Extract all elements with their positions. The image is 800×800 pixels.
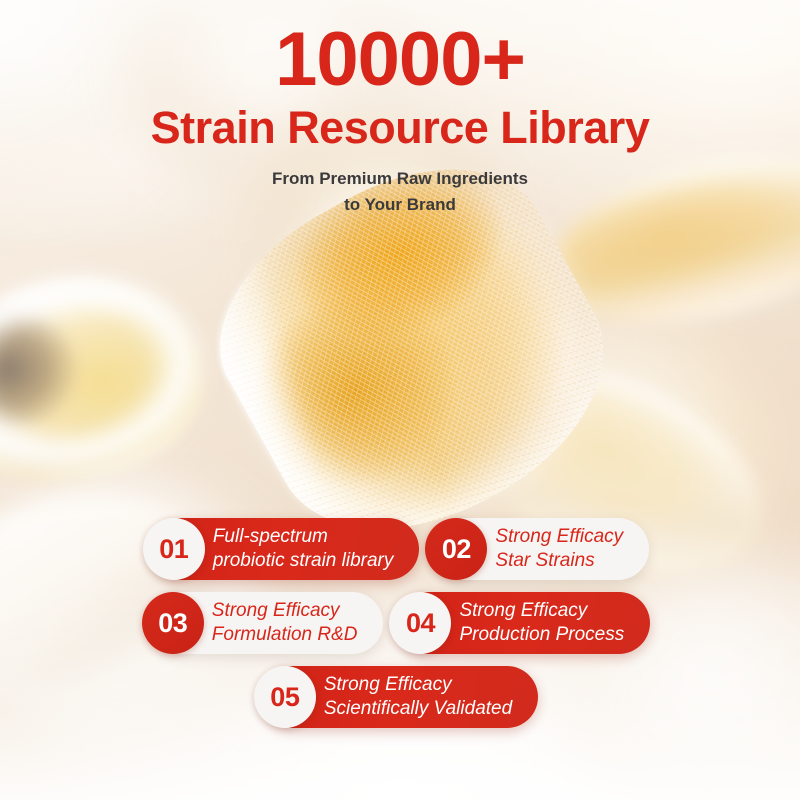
feature-pill-03[interactable]: 03 Strong Efficacy Formulation R&D: [150, 592, 384, 654]
feature-text-05: Strong Efficacy Scientifically Validated: [324, 673, 512, 721]
feature-line-2: Scientifically Validated: [324, 697, 512, 721]
tagline-line-2: to Your Brand: [0, 192, 800, 218]
feature-badge-04: 04: [389, 592, 451, 654]
tagline-block: From Premium Raw Ingredients to Your Bra…: [0, 166, 800, 217]
feature-pill-05[interactable]: 05 Strong Efficacy Scientifically Valida…: [262, 666, 538, 728]
headline-block: 10000+ Strain Resource Library: [0, 22, 800, 153]
headline-count: 10000+: [0, 22, 800, 98]
feature-line-1: Strong Efficacy: [495, 525, 623, 549]
feature-badge-01: 01: [143, 518, 205, 580]
feature-text-03: Strong Efficacy Formulation R&D: [212, 599, 358, 647]
headline-title: Strain Resource Library: [0, 104, 800, 153]
feature-badge-05: 05: [254, 666, 316, 728]
feature-badge-02: 02: [425, 518, 487, 580]
feature-line-2: probiotic strain library: [213, 549, 394, 573]
feature-line-2: Star Strains: [495, 549, 623, 573]
feature-row-2: 03 Strong Efficacy Formulation R&D 04 St…: [0, 592, 800, 654]
feature-line-1: Strong Efficacy: [212, 599, 358, 623]
feature-text-02: Strong Efficacy Star Strains: [495, 525, 623, 573]
feature-line-2: Formulation R&D: [212, 623, 358, 647]
feature-line-1: Strong Efficacy: [324, 673, 512, 697]
tagline-line-1: From Premium Raw Ingredients: [0, 166, 800, 192]
feature-text-04: Strong Efficacy Production Process: [459, 599, 624, 647]
feature-pill-02[interactable]: 02 Strong Efficacy Star Strains: [433, 518, 649, 580]
feature-row-1: 01 Full-spectrum probiotic strain librar…: [0, 518, 800, 580]
feature-list: 01 Full-spectrum probiotic strain librar…: [0, 518, 800, 740]
feature-line-2: Production Process: [459, 623, 624, 647]
promotional-poster: 10000+ Strain Resource Library From Prem…: [0, 0, 800, 800]
feature-line-1: Full-spectrum: [213, 525, 394, 549]
feature-badge-03: 03: [142, 592, 204, 654]
feature-pill-01[interactable]: 01 Full-spectrum probiotic strain librar…: [151, 518, 420, 580]
feature-text-01: Full-spectrum probiotic strain library: [213, 525, 394, 573]
feature-row-3: 05 Strong Efficacy Scientifically Valida…: [0, 666, 800, 728]
feature-pill-04[interactable]: 04 Strong Efficacy Production Process: [397, 592, 650, 654]
feature-line-1: Strong Efficacy: [459, 599, 624, 623]
